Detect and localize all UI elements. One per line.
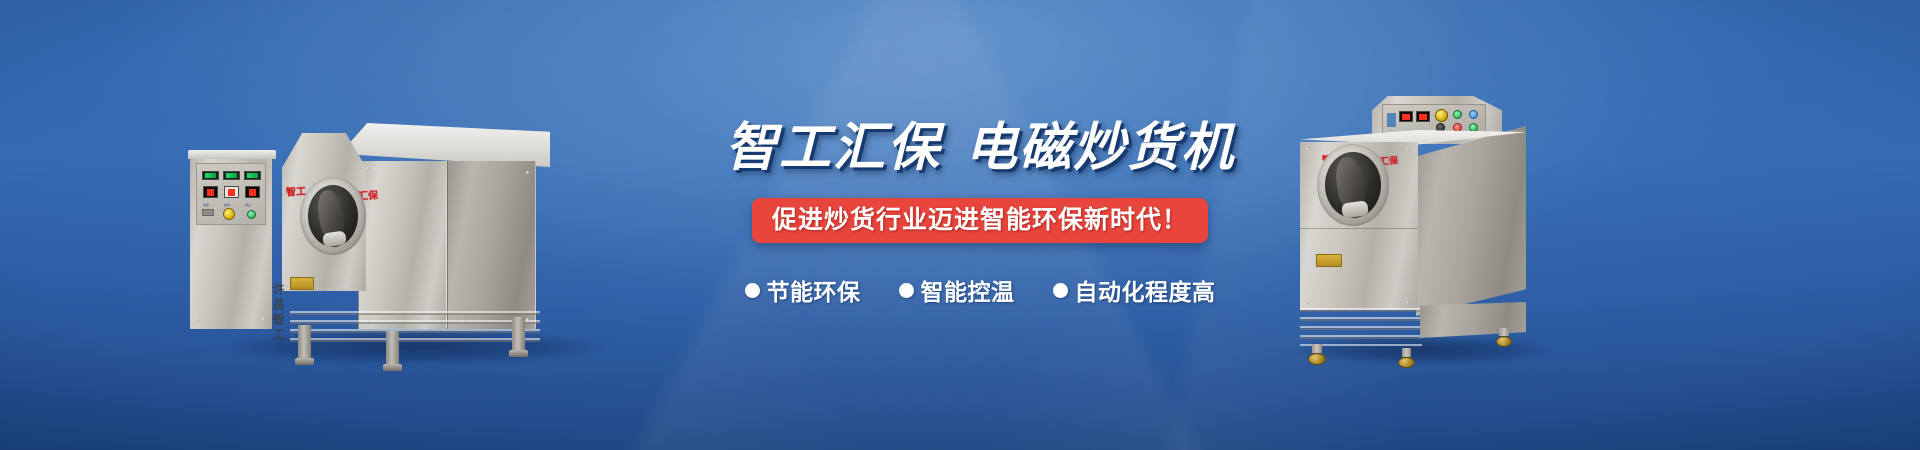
banner-ribbon: 促进炒货行业迈进智能环保新时代！: [752, 198, 1208, 243]
machine-right-control-panel[interactable]: [1382, 104, 1486, 134]
machine-left-control-panel[interactable]: 电源 启动 停止: [196, 163, 266, 225]
machine-left-foot-3: [509, 350, 528, 357]
feature-label-1: 节能环保: [767, 273, 861, 307]
drum-tray: [322, 231, 347, 247]
panel-seam: [1300, 228, 1418, 229]
rivet: [1406, 148, 1409, 151]
switch-label-plate: [1387, 113, 1396, 127]
indicator-lamp-blue-1[interactable]: [1469, 110, 1478, 119]
caster-front-left: [1308, 344, 1326, 364]
rivet: [1306, 148, 1309, 151]
ribbon-text: 促进炒货行业迈进智能环保新时代！: [772, 205, 1188, 234]
caster-fork: [1312, 344, 1322, 353]
panel-display-2: [224, 186, 239, 198]
panel-meter-2: [223, 171, 240, 180]
panel-display-temp: [1399, 111, 1413, 122]
bullet-dot-icon: [1053, 283, 1068, 298]
caster-fork: [1499, 328, 1508, 336]
machine-left-body: [358, 161, 536, 329]
machine-right: 智工 汇保: [1300, 96, 1540, 358]
panel-display-time: [1416, 111, 1430, 122]
banner-headline: 智工汇保电磁炒货机: [700, 122, 1260, 174]
rivet: [366, 167, 369, 170]
machine-left-vertical-label: 许昌智工: [270, 283, 287, 343]
machine-left-foot-1: [295, 358, 314, 365]
rivet: [262, 318, 265, 321]
machine-right-side-panel: [1416, 126, 1526, 316]
machine-left-leg-3: [512, 317, 525, 353]
caster-wheel: [1496, 336, 1512, 347]
feature-label-2: 智能控温: [921, 273, 1015, 307]
indicator-lamp-green-2[interactable]: [1469, 123, 1478, 132]
drum-tray: [1341, 200, 1369, 218]
indicator-lamp-red[interactable]: [1453, 123, 1462, 132]
machine-left-leg-1: [298, 325, 311, 361]
feature-label-3: 自动化程度高: [1075, 273, 1216, 307]
rivet: [442, 167, 445, 170]
banner-copy: 智工汇保电磁炒货机 促进炒货行业迈进智能环保新时代！ 节能环保 智能控温 自动化…: [700, 122, 1260, 307]
machine-left: 智工 汇保 许昌智工: [190, 95, 590, 355]
panel-display-3: [245, 186, 260, 198]
panel-indicator-lamp[interactable]: [247, 210, 256, 219]
feature-item-1: 节能环保: [745, 273, 861, 307]
machine-left-drum-opening: [300, 177, 366, 255]
indicator-lamp-green-1[interactable]: [1453, 110, 1462, 119]
feature-item-3: 自动化程度高: [1053, 273, 1216, 307]
rivet: [526, 171, 529, 174]
machine-right-drum-interior: [1325, 152, 1381, 218]
headline-part-2: 电磁炒货机: [965, 118, 1235, 178]
caster-fork: [1402, 348, 1412, 357]
bullet-dot-icon: [745, 283, 760, 298]
feature-item-2: 智能控温: [899, 273, 1015, 307]
panel-meter-1: [202, 171, 219, 180]
panel-switch-label-3: 停止: [245, 203, 251, 207]
machine-left-leg-2: [386, 331, 399, 367]
panel-switch-label-1: 电源: [203, 203, 209, 207]
caster-rear-right: [1496, 328, 1512, 346]
cabinet-top-cap: [188, 150, 276, 159]
feature-list: 节能环保 智能控温 自动化程度高: [700, 273, 1260, 307]
rivet: [1406, 301, 1409, 304]
bullet-dot-icon: [899, 283, 914, 298]
machine-left-vent-skirt: [290, 311, 540, 345]
rivet: [196, 318, 199, 321]
machine-right-drum-opening: [1317, 144, 1389, 226]
caster-front-right: [1398, 348, 1415, 367]
headline-part-1: 智工汇保: [725, 118, 941, 178]
machine-left-door-b: [447, 161, 536, 329]
panel-meter-3: [244, 171, 261, 180]
machine-left-drum-interior: [308, 185, 358, 247]
rivet: [1306, 301, 1309, 304]
machine-right-vent-skirt: [1300, 308, 1422, 346]
panel-toggle-switch[interactable]: [202, 209, 214, 216]
panel-display-1: [203, 186, 218, 198]
promo-banner: 智工 汇保 许昌智工: [0, 0, 1920, 450]
machine-left-warning-label: [290, 277, 314, 290]
machine-left-control-cabinet: 电源 启动 停止: [190, 157, 272, 329]
machine-right-warning-label: [1316, 254, 1342, 267]
emergency-stop-knob[interactable]: [223, 208, 235, 220]
panel-switch-label-2: 启动: [224, 203, 230, 207]
caster-wheel: [1398, 357, 1415, 369]
caster-wheel: [1308, 353, 1326, 365]
machine-left-foot-2: [383, 364, 402, 371]
emergency-stop-knob[interactable]: [1435, 109, 1448, 122]
